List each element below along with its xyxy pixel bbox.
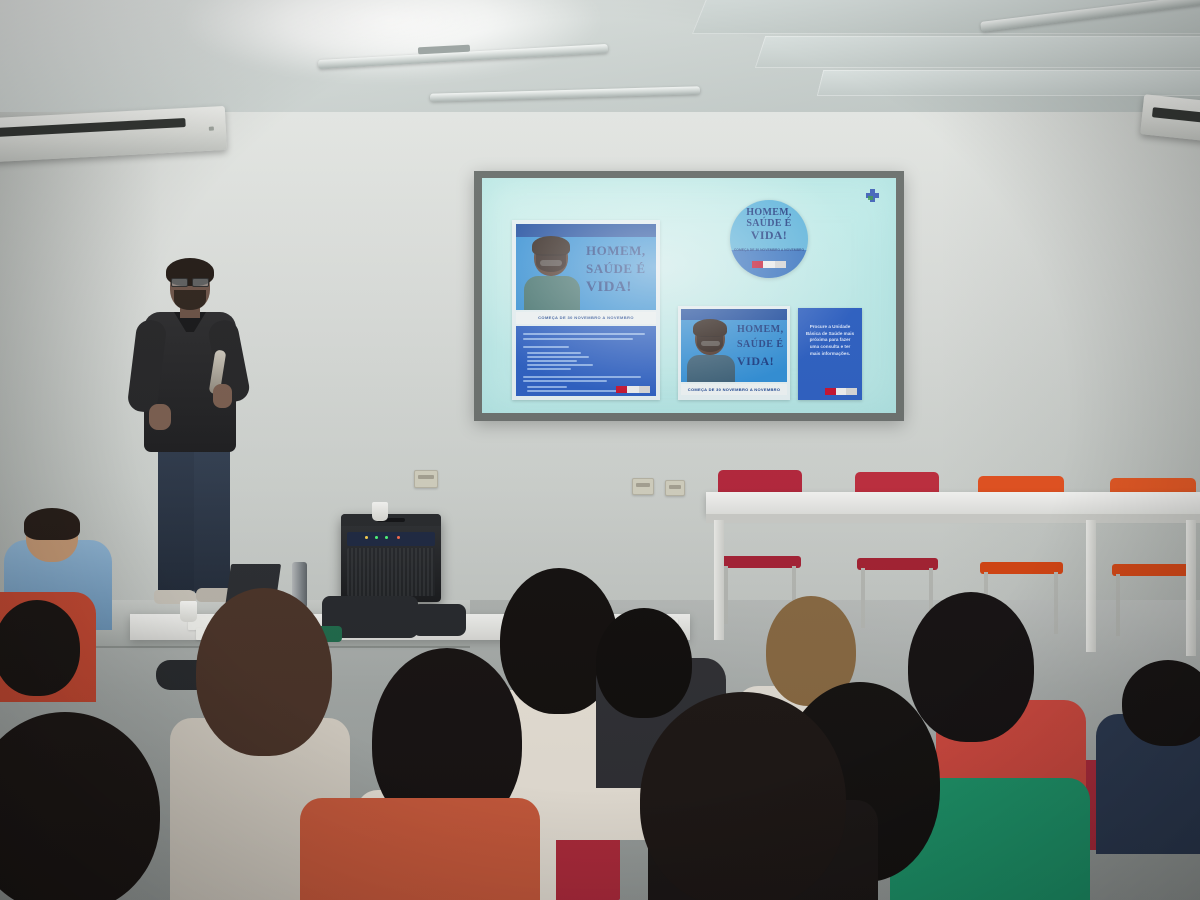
chair-back-1 [718,470,802,598]
slide-info-card-text: Procure a Unidade Básica de Saúde mais p… [798,308,862,357]
projected-slide: HOMEM, SAÚDE É VIDA! COMEÇA DE 30 NOVEMB… [482,178,896,413]
paper-cup-on-amp [372,502,388,521]
poster-secondary-photo: HOMEM, SAÚDE É VIDA! [681,309,787,382]
slide-poster-secondary: HOMEM, SAÚDE É VIDA! COMEÇA DE 30 NOVEMB… [678,306,790,400]
wall-outlet-2 [632,478,654,495]
poster-main-gov-logo [616,386,650,393]
poster-main-headline-3: VIDA! [586,280,632,295]
wall-outlet-3 [665,480,685,496]
badge-headline: HOMEM, SAÚDE É VIDA! [730,208,808,242]
poster-main-caption: COMEÇA DE 30 NOVEMBRO A NOVEMBRO [516,312,656,324]
poster-main-headline-2: SAÚDE É [586,262,646,275]
poster-secondary-headline-2: SAÚDE É [737,340,784,350]
pa-speaker-amplifier [341,514,441,602]
paper-cup-on-table [180,601,197,622]
slide-poster-main: HOMEM, SAÚDE É VIDA! COMEÇA DE 30 NOVEMB… [512,220,660,400]
wall-outlet-1 [414,470,438,488]
badge-headline-3: VIDA! [730,229,808,242]
ceiling-glare [180,0,600,80]
ceiling-panel-3 [817,70,1200,96]
eyeglasses [171,278,209,285]
poster-secondary-headline-1: HOMEM, [737,325,784,335]
air-conditioner-right [1140,94,1200,142]
poster-main-caption-band: COMEÇA DE 30 NOVEMBRO A NOVEMBRO [516,312,656,324]
table-leg-2 [1086,520,1096,652]
long-white-table-edge [706,514,1200,523]
presenter-right-hand [213,384,232,408]
table-leg-1 [714,520,724,640]
badge-gov-logo [752,261,786,268]
conference-room-photo: HOMEM, SAÚDE É VIDA! COMEÇA DE 30 NOVEMB… [0,0,1200,900]
table-leg-3 [1186,520,1196,656]
poster-main-headline-1: HOMEM, [586,244,646,257]
badge-caption: COMEÇA DE 30 NOVEMBRO A NOVEMBRO [730,248,808,252]
poster-secondary-headline-3: VIDA! [737,355,774,367]
long-white-table [706,492,1200,514]
poster-main-photo: HOMEM, SAÚDE É VIDA! [516,224,656,310]
health-ministry-logo [862,186,884,206]
poster-secondary-caption: COMEÇA DE 30 NOVEMBRO A NOVEMBRO [681,384,787,395]
presenter-left-hand [149,404,171,430]
slide-info-card: Procure a Unidade Básica de Saúde mais p… [798,308,862,400]
ceiling-panel-2 [755,36,1200,68]
info-card-gov-logo [825,388,857,395]
poster-secondary-caption-band: COMEÇA DE 30 NOVEMBRO A NOVEMBRO [681,384,787,395]
bag-2 [412,604,466,636]
slide-circular-badge: HOMEM, SAÚDE É VIDA! COMEÇA DE 30 NOVEMB… [730,200,808,278]
badge-headline-1: HOMEM, [730,208,808,219]
poster-main-body [516,326,656,396]
